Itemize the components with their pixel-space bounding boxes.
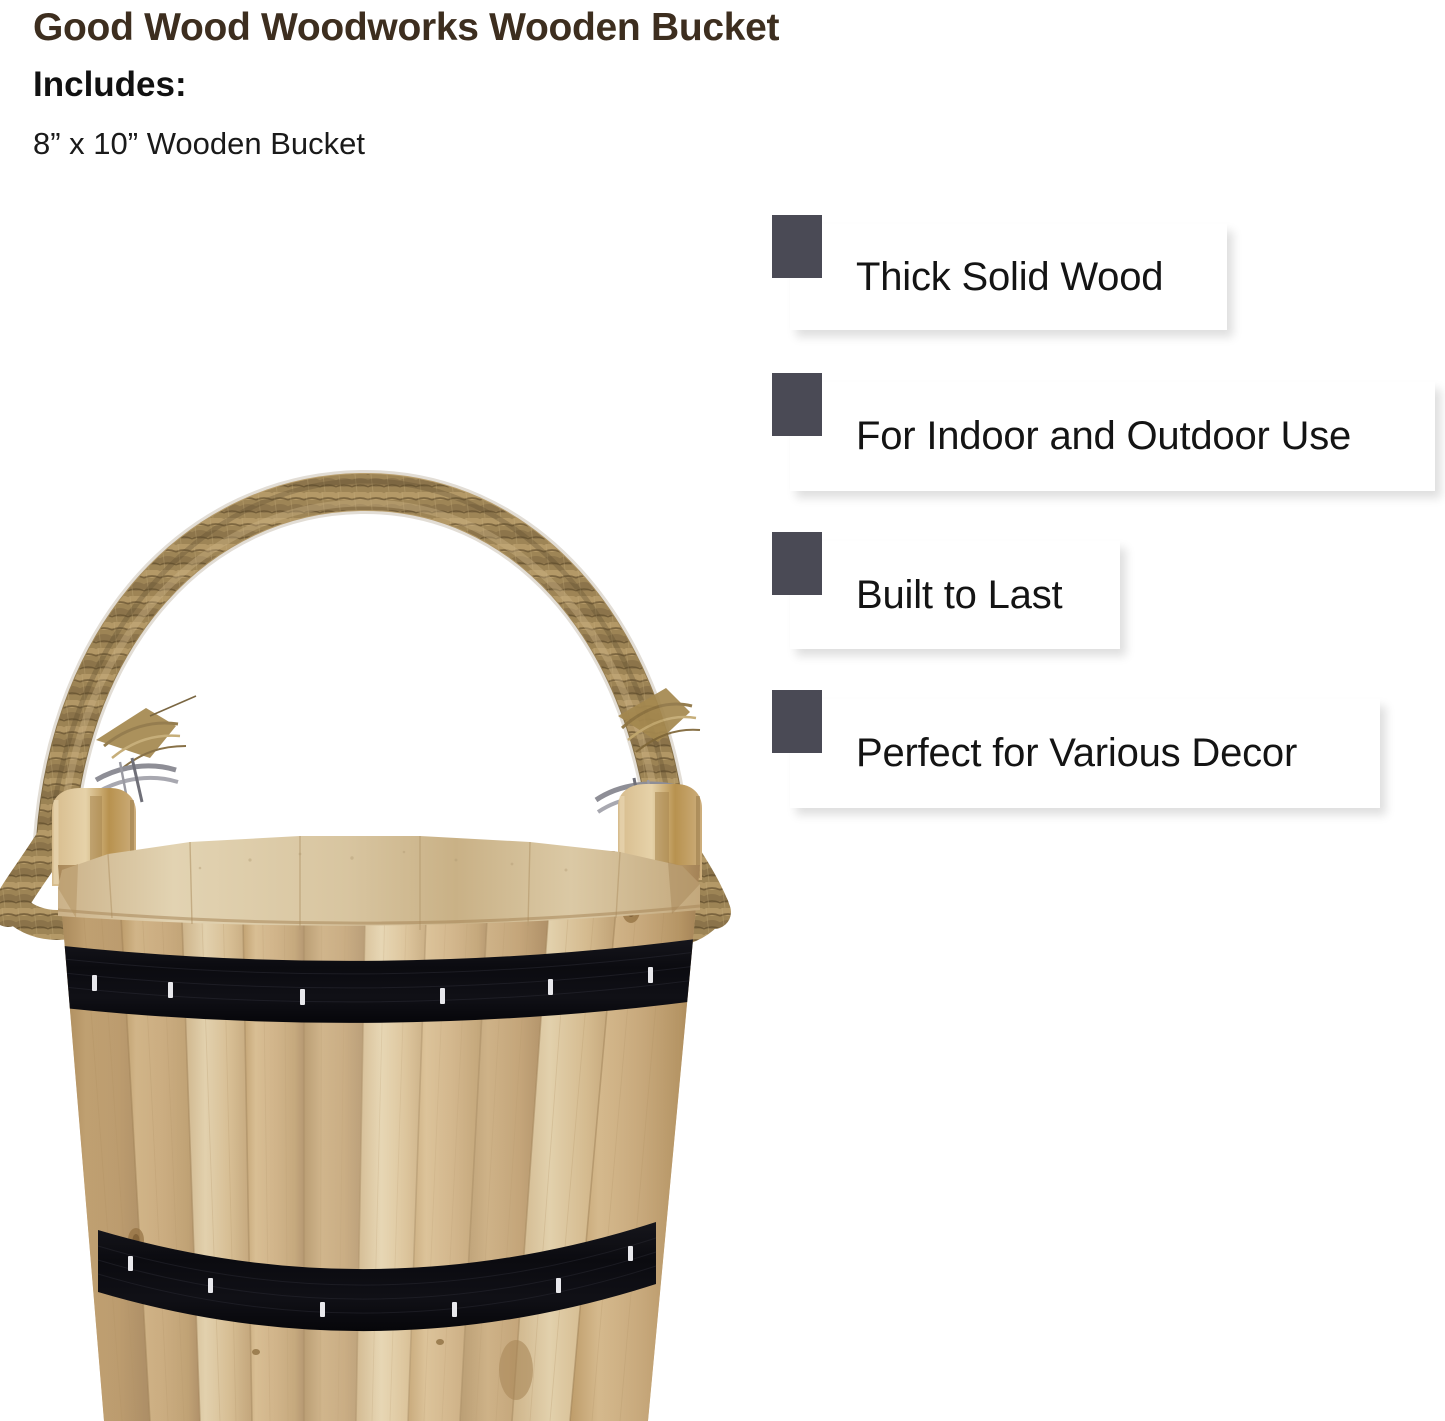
feature-label: For Indoor and Outdoor Use: [856, 414, 1351, 459]
feature-marker-square: [772, 373, 822, 436]
feature-card: Built to Last: [790, 541, 1120, 649]
feature-card: For Indoor and Outdoor Use: [790, 382, 1435, 491]
bucket-illustration: [0, 440, 760, 1421]
feature-label: Thick Solid Wood: [856, 255, 1163, 300]
feature-callout-indoor-outdoor: For Indoor and Outdoor Use: [772, 373, 1445, 498]
feature-marker-square: [772, 690, 822, 753]
feature-card: Thick Solid Wood: [790, 224, 1227, 330]
feature-marker-square: [772, 532, 822, 595]
rope-fray-left: [96, 696, 196, 770]
feature-callout-built-to-last: Built to Last: [772, 532, 1132, 657]
page-title: Good Wood Woodworks Wooden Bucket: [33, 0, 1033, 49]
feature-label: Perfect for Various Decor: [856, 731, 1297, 776]
feature-callout-thick-solid-wood: Thick Solid Wood: [772, 215, 1242, 335]
header-text-block: Good Wood Woodworks Wooden Bucket Includ…: [33, 0, 1033, 160]
rope-handle: [50, 481, 674, 844]
product-image-wooden-bucket: [0, 440, 760, 1421]
includes-item-text: 8” x 10” Wooden Bucket: [33, 104, 1033, 161]
bucket-body: [0, 836, 760, 1421]
feature-marker-square: [772, 215, 822, 278]
feature-callout-various-decor: Perfect for Various Decor: [772, 690, 1397, 815]
feature-label: Built to Last: [856, 573, 1062, 618]
feature-card: Perfect for Various Decor: [790, 699, 1380, 808]
bucket-rim: [58, 836, 700, 930]
includes-heading: Includes:: [33, 49, 1033, 104]
